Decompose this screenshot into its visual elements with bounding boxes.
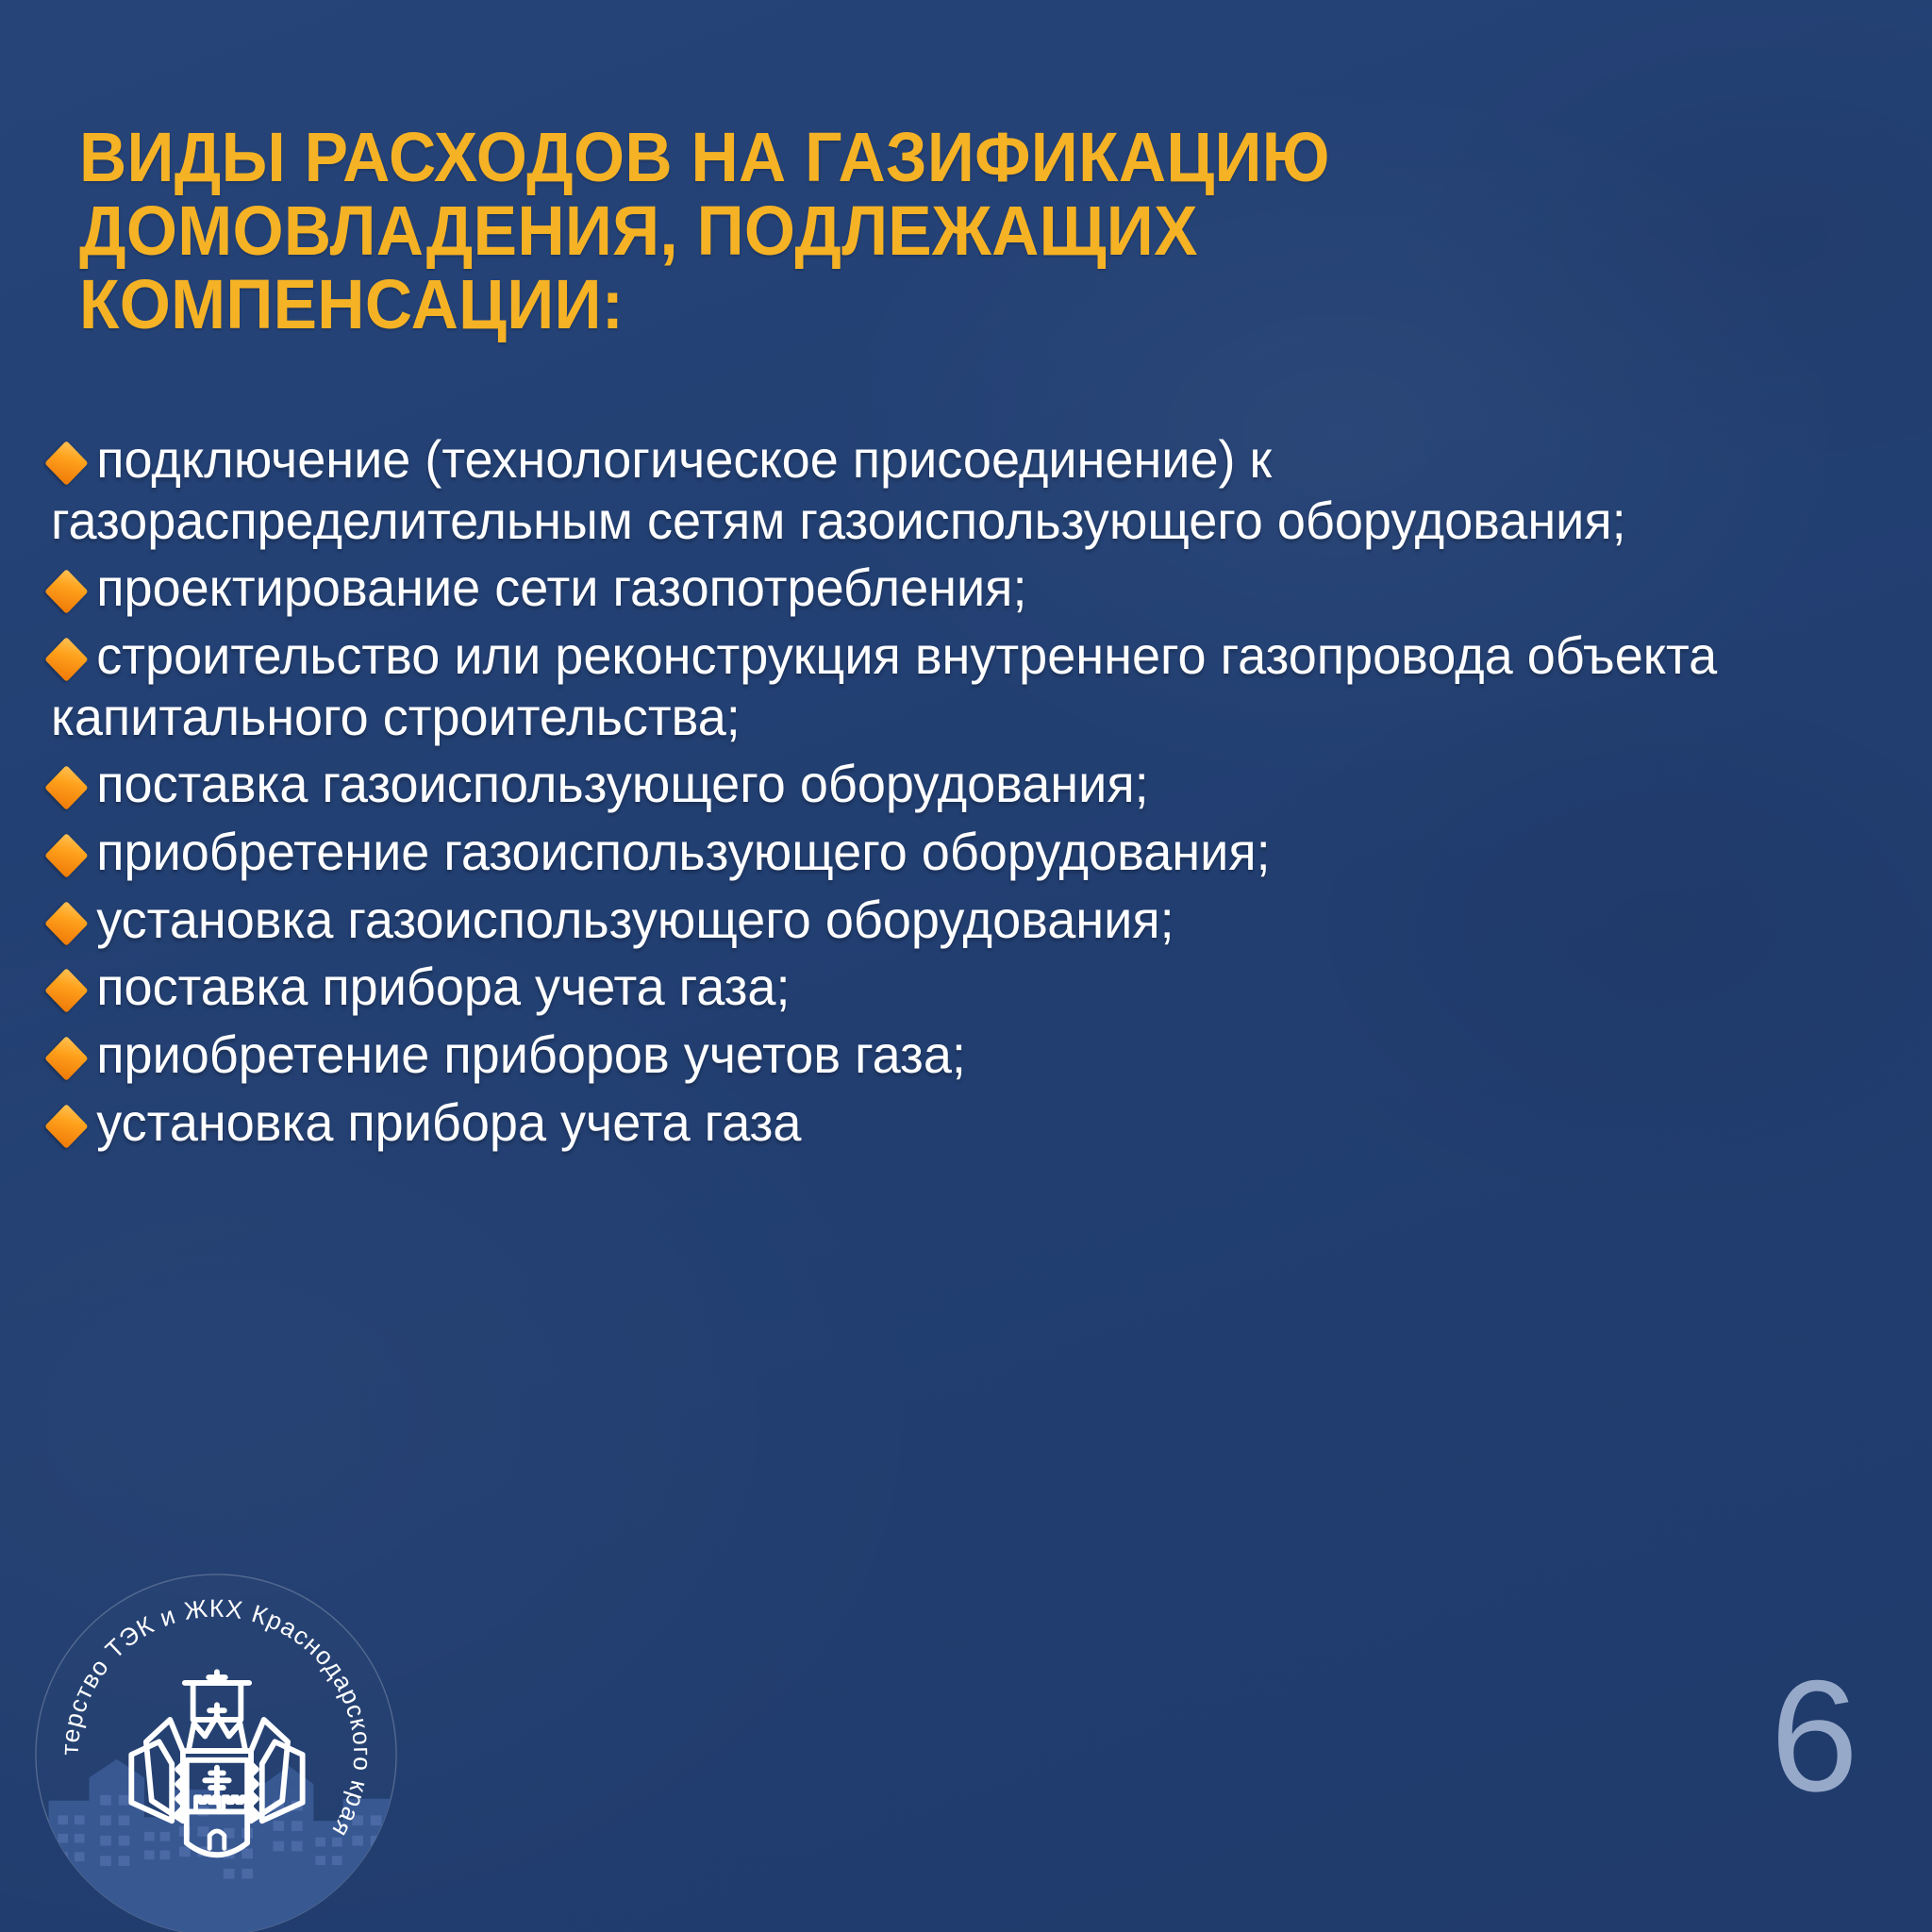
compensable-expense-list: подключение (технологическое присоединен… — [51, 429, 1835, 1159]
list-item: поставка прибора учета газа; — [51, 957, 1835, 1018]
list-item: подключение (технологическое присоединен… — [51, 429, 1835, 551]
title-line-3: КОМПЕНСАЦИИ: — [79, 268, 1693, 341]
diamond-bullet-icon — [44, 1036, 88, 1081]
list-item-label: подключение (технологическое присоединен… — [51, 429, 1626, 550]
diamond-bullet-icon — [44, 637, 88, 682]
list-item: приобретение приборов учетов газа; — [51, 1024, 1835, 1086]
list-item: строительство или реконструкция внутренн… — [51, 625, 1835, 747]
ministry-logo: Министерство ТЭК и ЖКХ Краснодарского кр… — [32, 1571, 400, 1932]
list-item-label: установка газоиспользующего оборудования… — [96, 890, 1174, 949]
diamond-bullet-icon — [44, 1104, 88, 1149]
page-number: 6 — [1771, 1657, 1858, 1815]
list-item-label: проектирование сети газопотребления; — [96, 558, 1026, 617]
list-item-label: поставка газоиспользующего оборудования; — [96, 754, 1148, 813]
title-line-1: ВИДЫ РАСХОДОВ НА ГАЗИФИКАЦИЮ — [79, 121, 1693, 194]
list-item-label: приобретение приборов учетов газа; — [96, 1024, 966, 1084]
diamond-bullet-icon — [44, 833, 88, 878]
diamond-bullet-icon — [44, 968, 88, 1013]
list-item-label: приобретение газоиспользующего оборудова… — [96, 822, 1270, 881]
diamond-bullet-icon — [44, 901, 88, 946]
list-item: установка прибора учета газа — [51, 1092, 1835, 1154]
list-item: приобретение газоиспользующего оборудова… — [51, 822, 1835, 883]
list-item: установка газоиспользующего оборудования… — [51, 890, 1835, 951]
list-item-label: строительство или реконструкция внутренн… — [51, 625, 1717, 746]
list-item: проектирование сети газопотребления; — [51, 558, 1835, 619]
diamond-bullet-icon — [44, 765, 88, 810]
list-item-label: поставка прибора учета газа; — [96, 957, 790, 1016]
list-item-label: установка прибора учета газа — [96, 1092, 801, 1152]
page-title: ВИДЫ РАСХОДОВ НА ГАЗИФИКАЦИЮ ДОМОВЛАДЕНИ… — [79, 121, 1693, 342]
infographic-slide: ВИДЫ РАСХОДОВ НА ГАЗИФИКАЦИЮ ДОМОВЛАДЕНИ… — [0, 0, 1932, 1932]
diamond-bullet-icon — [44, 441, 88, 486]
title-line-2: ДОМОВЛАДЕНИЯ, ПОДЛЕЖАЩИХ — [79, 194, 1693, 268]
diamond-bullet-icon — [44, 569, 88, 614]
list-item: поставка газоиспользующего оборудования; — [51, 754, 1835, 815]
